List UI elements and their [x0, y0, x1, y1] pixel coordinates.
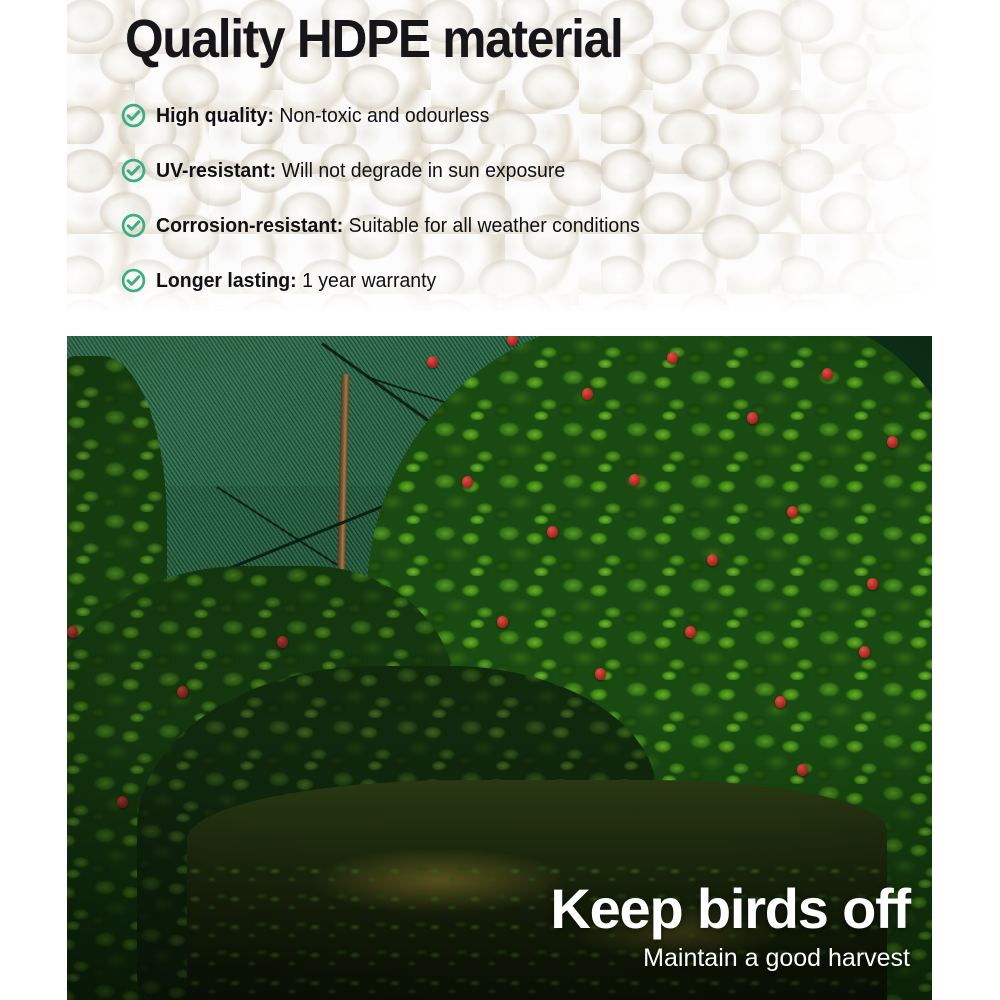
feature-item-high-quality: High quality: Non-toxic and odourless [121, 88, 921, 143]
photo-caption: Keep birds off Maintain a good harvest [550, 880, 910, 972]
feature-detail: Will not degrade in sun exposure [276, 159, 565, 182]
apple-fruit [667, 352, 678, 364]
feature-lead: Corrosion-resistant: [156, 214, 343, 237]
feature-list: High quality: Non-toxic and odourless UV… [121, 88, 921, 308]
apple-fruit [177, 686, 188, 698]
apple-fruit [497, 616, 508, 628]
panel-title: Quality HDPE material [125, 12, 623, 66]
apple-fruit [582, 388, 593, 400]
check-circle-icon [121, 213, 146, 238]
hdpe-feature-panel: Quality HDPE material High quality: Non-… [67, 0, 932, 311]
apple-fruit [797, 764, 808, 776]
feature-item-longer-lasting: Longer lasting: 1 year warranty [121, 253, 921, 308]
feature-text: Longer lasting: 1 year warranty [156, 269, 436, 293]
apple-fruit [887, 436, 898, 448]
apple-fruit [629, 474, 640, 486]
apple-fruit [117, 796, 128, 808]
apple-fruit [867, 578, 878, 590]
apple-fruit [427, 356, 438, 368]
orchard-photo-panel: Keep birds off Maintain a good harvest [67, 336, 932, 1000]
feature-lead: Longer lasting: [156, 269, 297, 292]
feature-item-corrosion-resistant: Corrosion-resistant: Suitable for all we… [121, 198, 921, 253]
check-circle-icon [121, 158, 146, 183]
apple-fruit [822, 368, 833, 380]
feature-detail: Non-toxic and odourless [274, 104, 489, 127]
feature-lead: UV-resistant: [156, 159, 276, 182]
check-circle-icon [121, 103, 146, 128]
feature-text: Corrosion-resistant: Suitable for all we… [156, 214, 640, 238]
check-circle-icon [121, 268, 146, 293]
apple-fruit [595, 668, 606, 680]
caption-subtitle: Maintain a good harvest [550, 945, 910, 973]
feature-text: UV-resistant: Will not degrade in sun ex… [156, 159, 565, 183]
feature-detail: 1 year warranty [297, 269, 437, 292]
feature-item-uv-resistant: UV-resistant: Will not degrade in sun ex… [121, 143, 921, 198]
product-marketing-image: Quality HDPE material High quality: Non-… [0, 0, 1000, 1000]
feature-lead: High quality: [156, 104, 274, 127]
apple-fruit [775, 696, 786, 708]
apple-fruit [67, 626, 78, 638]
apple-fruit [859, 646, 870, 658]
feature-detail: Suitable for all weather conditions [343, 214, 640, 237]
apple-fruit [462, 476, 473, 488]
apple-fruit [685, 626, 696, 638]
apple-fruit [547, 526, 558, 538]
apple-fruit [787, 506, 798, 518]
feature-text: High quality: Non-toxic and odourless [156, 104, 489, 128]
caption-headline: Keep birds off [550, 880, 910, 937]
apple-fruit [747, 412, 758, 424]
apple-fruit [707, 554, 718, 566]
apple-fruit [277, 636, 288, 648]
